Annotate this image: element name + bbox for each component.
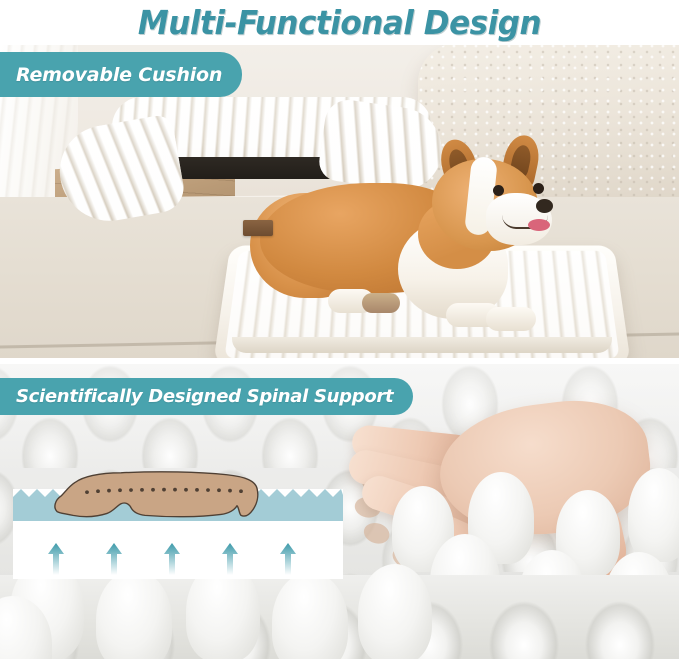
support-arrow-icon bbox=[47, 543, 65, 575]
product-infographic: Multi-Functional Design bbox=[0, 0, 679, 659]
support-arrow-icon bbox=[105, 543, 123, 575]
foam-peak bbox=[628, 468, 679, 562]
cushion-mat-edge bbox=[232, 337, 612, 353]
dog-eye bbox=[533, 183, 544, 194]
foam-peak bbox=[358, 564, 432, 659]
dog-tongue bbox=[528, 219, 550, 231]
dog-paw bbox=[362, 293, 400, 313]
spinal-support-diagram bbox=[13, 489, 343, 579]
dog-paw bbox=[486, 307, 536, 331]
dog-silhouette-illustration bbox=[49, 467, 299, 527]
page-title-bar: Multi-Functional Design bbox=[0, 0, 679, 45]
dog-nose bbox=[536, 199, 553, 213]
bolster-left bbox=[53, 113, 188, 228]
support-arrow-icon bbox=[279, 543, 297, 575]
badge-spinal-support: Scientifically Designed Spinal Support bbox=[0, 378, 413, 415]
badge-label: Scientifically Designed Spinal Support bbox=[16, 386, 393, 407]
page-title: Multi-Functional Design bbox=[138, 3, 541, 42]
badge-removable-cushion: Removable Cushion bbox=[0, 52, 242, 97]
corgi-dog bbox=[250, 141, 550, 331]
brand-leather-tag bbox=[243, 220, 273, 236]
support-arrow-icon bbox=[221, 543, 239, 575]
badge-label: Removable Cushion bbox=[16, 64, 222, 86]
dog-eye bbox=[493, 185, 504, 196]
bolster-ribs bbox=[53, 113, 188, 228]
foam-peak bbox=[96, 570, 172, 659]
support-arrow-icon bbox=[163, 543, 181, 575]
